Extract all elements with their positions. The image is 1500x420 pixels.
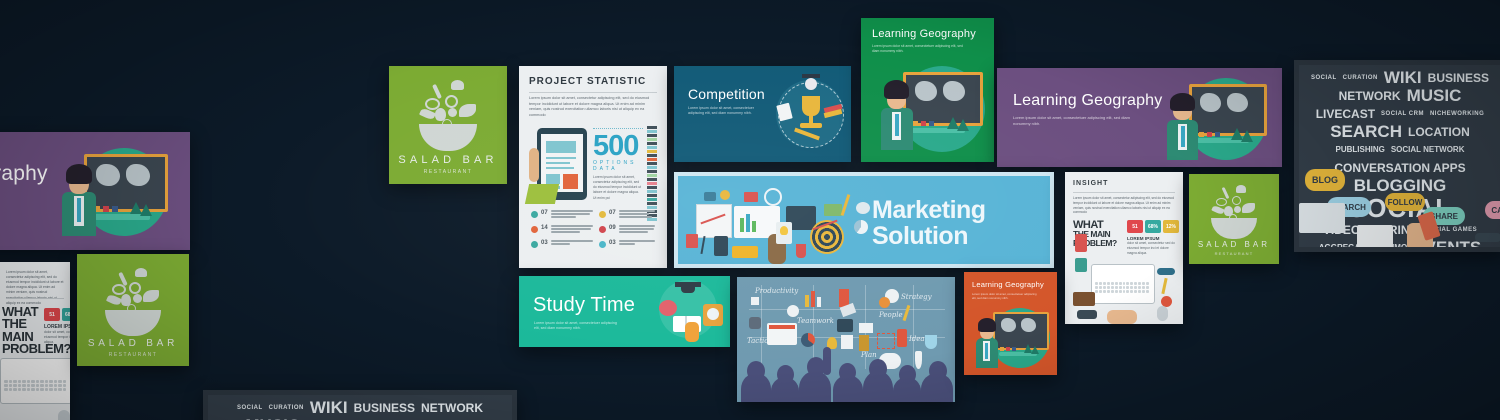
bubble-follow: FOLLOW xyxy=(1385,193,1425,211)
money-icon xyxy=(824,204,842,216)
green-paper xyxy=(525,184,559,204)
graduation-cap-icon xyxy=(681,287,695,293)
crowd-silhouette-head xyxy=(899,365,916,384)
wordcloud-word: SOCIAL CRM xyxy=(1381,111,1424,117)
crowd-silhouette-head xyxy=(839,363,856,382)
wordcloud-word: NETWORK xyxy=(421,402,483,414)
brain-icon xyxy=(659,300,677,316)
bar-chart-icon xyxy=(746,214,750,232)
bar-chart-icon xyxy=(752,221,756,232)
slide-insight-right[interactable]: INSIGHT Lorem ipsum dolor sit amet, cons… xyxy=(1065,172,1183,324)
bar-chart-icon xyxy=(740,218,744,232)
bubble-call: CALL xyxy=(1485,201,1500,219)
badge-icon xyxy=(1075,234,1087,252)
list-text xyxy=(619,210,657,219)
wordcloud-word: BUSINESS xyxy=(1428,72,1489,84)
bubble-blog: BLOG xyxy=(1305,169,1345,191)
laptop-keys xyxy=(1095,282,1149,293)
crowd-silhouette-head xyxy=(869,359,887,379)
project-statistic-body: Lorem ipsum dolor sit amet, consectetur … xyxy=(529,96,657,119)
laptop-icon xyxy=(1299,203,1345,233)
slide-social-media-wordcloud-right[interactable]: SOCIALCURATIONWIKIBUSINESSNETWORKMUSICLI… xyxy=(1294,60,1500,252)
list-text xyxy=(551,225,593,234)
slide-learning-geography-green[interactable]: Learning Geography Lorem ipsum dolor sit… xyxy=(861,18,994,162)
mouse-icon xyxy=(58,410,70,420)
list-item: 14 xyxy=(531,225,593,234)
slide-learning-geography-purple[interactable]: Learning Geography Lorem ipsum dolor sit… xyxy=(997,68,1282,167)
insight-body: Lorem ipsum dolor sit amet, consectetur … xyxy=(1073,196,1175,215)
slide-subtitle: Lorem ipsum dolor sit amet, consectetuer… xyxy=(872,44,964,54)
smartphone-icon xyxy=(897,329,907,347)
stat-chip: 51 xyxy=(44,308,60,321)
wordcloud-word: LIVECAST xyxy=(1316,108,1375,120)
cup-icon xyxy=(796,244,806,258)
list-number: 07 xyxy=(609,210,616,216)
wordcloud-word: SEARCH xyxy=(1330,123,1402,140)
list-text xyxy=(619,225,657,234)
wordcloud-word: PUBLISHING xyxy=(1336,146,1385,154)
label-productivity: Productivity xyxy=(755,287,798,295)
slide-title: Study Time xyxy=(533,294,635,317)
geography-illustration xyxy=(972,304,1054,374)
geography-illustration xyxy=(62,140,182,244)
label-strategy: Strategy xyxy=(901,293,932,301)
flipchart-legs xyxy=(700,236,705,254)
wordcloud-word: BUSINESS xyxy=(354,402,415,414)
gear-icon xyxy=(879,297,890,308)
bar-chart-icon xyxy=(805,295,809,307)
screen-icon xyxy=(751,297,759,305)
slide-title: Geography xyxy=(0,162,48,186)
document-icon xyxy=(841,335,853,349)
user-badge-icon xyxy=(787,305,799,317)
big-number-body: Lorem ipsum dolor sit amet, consectetur … xyxy=(593,175,643,201)
crowd-silhouette-head xyxy=(747,361,765,381)
slide-project-statistic[interactable]: PROJECT STATISTIC Lorem ipsum dolor sit … xyxy=(519,66,667,268)
lightbulb-icon xyxy=(780,226,788,235)
insight-body: Lorem ipsum dolor sit amet, consectetur … xyxy=(6,270,64,306)
clock-icon xyxy=(720,190,730,200)
watch-icon xyxy=(1077,310,1097,319)
graduate-icon xyxy=(805,78,817,90)
pie-chart-icon xyxy=(801,333,815,347)
wordcloud-word: BLOGGING xyxy=(1354,177,1447,194)
list-item: 09 xyxy=(599,225,657,234)
wordcloud-canvas: SOCIALCURATIONWIKIBUSINESSNETWORKMUSICLI… xyxy=(208,395,512,420)
wordcloud-word: CURATION xyxy=(269,405,304,411)
list-text xyxy=(551,240,593,246)
bar-chart-icon xyxy=(817,297,821,307)
briefcase-icon xyxy=(837,319,853,332)
list-item: 07 xyxy=(531,210,593,219)
wordcloud-word: SOCIAL xyxy=(237,405,263,411)
big-number: 500 xyxy=(593,133,643,159)
slide-insight-left[interactable]: Lorem ipsum dolor sit amet, consectetur … xyxy=(0,262,70,420)
list-item: 03 xyxy=(531,240,593,248)
slide-learning-geography-purple-left[interactable]: Geography ing elit, xyxy=(0,132,190,250)
monitor-bar xyxy=(769,325,795,329)
big-number-label: OPTIONS DATA xyxy=(593,160,643,172)
calculator-icon xyxy=(714,236,728,256)
list-text xyxy=(551,210,593,219)
color-stripes xyxy=(647,126,657,221)
flask-icon xyxy=(925,335,937,349)
shopping-bag-icon xyxy=(686,234,698,248)
raised-arm xyxy=(823,347,831,375)
wordcloud-word: CURATION xyxy=(1343,75,1378,81)
bullet-dot xyxy=(599,241,606,248)
dotted-rule xyxy=(593,128,643,133)
pie-chart-icon xyxy=(854,220,868,234)
slide-business-infographic[interactable]: Productivity Teamwork Strategy People Id… xyxy=(737,277,955,402)
stat-caption-body: dolor sit amet, consectetur sed do eiusm… xyxy=(1127,241,1177,255)
wordcloud-word: CONVERSATION APPS xyxy=(1334,162,1465,174)
slide-learning-geography-orange[interactable]: Learning Geography Lorem ipsum dolor sit… xyxy=(964,272,1057,375)
mouse-icon xyxy=(1157,306,1168,321)
slide-subtitle: Lorem ipsum dolor sit amet, consectetuer… xyxy=(972,292,1038,300)
list-number: 09 xyxy=(609,225,616,231)
laptop-keys xyxy=(4,380,66,391)
glasses-icon xyxy=(1475,233,1500,242)
salad-bar-title: SALAD BAR RESTAURANT xyxy=(1189,240,1279,256)
wordcloud-word: MUSIC xyxy=(1407,87,1462,104)
stat-chip: 68% xyxy=(1145,220,1161,233)
bar-chart-icon xyxy=(811,291,815,307)
slide-subtitle: ing elit, xyxy=(0,190,64,197)
graduation-cap-icon xyxy=(802,74,820,78)
geography-illustration xyxy=(1157,74,1277,166)
slide-salad-bar-right[interactable]: SALAD BAR RESTAURANT xyxy=(1189,174,1279,264)
label-plan: Plan xyxy=(861,351,877,359)
hand-holding-tablet xyxy=(529,148,539,182)
chess-icon xyxy=(859,335,869,351)
network-icon xyxy=(877,333,895,349)
pencil-icon xyxy=(841,194,851,216)
slide-salad-bar-top[interactable]: SALAD BAR RESTAURANT xyxy=(389,66,507,184)
slide-title: Learning Geography xyxy=(972,280,1044,289)
pen-icon xyxy=(903,305,911,321)
wallet-icon xyxy=(1073,292,1095,306)
slide-study-time[interactable]: Study Time Lorem ipsum dolor sit amet, c… xyxy=(519,276,730,347)
list-text xyxy=(619,240,657,246)
slide-subtitle: Lorem ipsum dolor sit amet, consectetuer… xyxy=(534,321,618,331)
insight-stats: 51 68% 12% xyxy=(44,308,70,321)
pencil-icon xyxy=(1161,278,1167,294)
geography-illustration xyxy=(873,60,991,160)
truck-icon xyxy=(732,246,758,258)
wordcloud-word: WIKI xyxy=(1384,69,1422,86)
slide-wall: Geography ing elit, Lorem ipsum dolor si… xyxy=(0,0,1500,420)
wordcloud-word: NICHEWORKING xyxy=(1430,111,1484,117)
salad-bar-title: SALAD BAR RESTAURANT xyxy=(77,338,189,358)
stat-chip: 68% xyxy=(62,308,70,321)
camera-icon xyxy=(704,192,716,201)
slide-title: Learning Geography xyxy=(872,28,976,40)
stat-chip: 12% xyxy=(1163,220,1179,233)
crowd-silhouette-head xyxy=(929,361,947,381)
insight-heading: INSIGHT xyxy=(1073,180,1108,187)
wordcloud-word: SOCIAL NETWORK xyxy=(1391,146,1465,154)
bullet-dot xyxy=(531,226,538,233)
hand-pointer-icon xyxy=(685,322,699,342)
slide-subtitle: Lorem ipsum dolor sit amet, consectetuer… xyxy=(688,106,766,116)
wordcloud-words: SOCIALCURATIONWIKIBUSINESSNETWORKMUSICLI… xyxy=(208,399,512,420)
list-number: 03 xyxy=(541,240,548,246)
slide-subtitle: Lorem ipsum dolor sit amet, consectetuer… xyxy=(1013,115,1143,127)
salad-bar-title: SALAD BAR RESTAURANT xyxy=(389,154,507,175)
wordcloud-word: LOCATION xyxy=(1408,126,1470,138)
insight-question: WHAT THE MAIN PROBLEM? xyxy=(2,306,42,355)
envelope-icon xyxy=(859,323,873,333)
tie-icon xyxy=(915,351,922,369)
list-number: 14 xyxy=(541,225,548,231)
marketing-illustration xyxy=(684,180,902,266)
slide-marketing-solution[interactable]: Marketing Solution xyxy=(674,172,1054,268)
label-people: People xyxy=(879,311,903,319)
project-statistic-heading: PROJECT STATISTIC xyxy=(529,76,646,87)
wrench-icon xyxy=(749,317,761,329)
competition-illustration xyxy=(766,70,851,160)
bullet-dot xyxy=(531,241,538,248)
list-item: 03 xyxy=(599,240,657,248)
bullet-dot xyxy=(599,226,606,233)
bullet-dot xyxy=(531,211,538,218)
wordcloud-word: NETWORK xyxy=(1339,90,1401,102)
insight-stats: 51 68% 12% xyxy=(1127,220,1179,233)
clock-face xyxy=(707,308,719,320)
crowd-silhouette-head xyxy=(777,365,794,384)
slide-social-media-wordcloud-center[interactable]: SOCIALCURATIONWIKIBUSINESSNETWORKMUSICLI… xyxy=(203,390,517,420)
list-item: 07 xyxy=(599,210,657,219)
list-number: 03 xyxy=(609,240,616,246)
slide-competition[interactable]: Competition Lorem ipsum dolor sit amet, … xyxy=(674,66,851,162)
slide-salad-bar-left[interactable]: SALAD BAR RESTAURANT xyxy=(77,254,189,366)
folder-icon xyxy=(744,192,758,202)
wordcloud-word: WIKI xyxy=(310,399,348,416)
slide-title: Learning Geography xyxy=(1013,92,1162,110)
stat-caption-body: dolor sit amet, consectetur sed do eiusm… xyxy=(44,330,70,345)
label-teamwork: Teamwork xyxy=(797,317,834,325)
slide-title: Competition xyxy=(688,86,765,102)
notebook-icon xyxy=(1357,225,1393,247)
bullet-dot xyxy=(599,211,606,218)
magnifier-icon xyxy=(764,188,782,206)
label-tactic: Tactic xyxy=(747,337,768,345)
brain-icon xyxy=(856,202,870,214)
hands-icon xyxy=(1107,310,1137,324)
stat-chip: 51 xyxy=(1127,220,1143,233)
sunglasses-icon xyxy=(1157,268,1175,275)
wordcloud-canvas: SOCIALCURATIONWIKIBUSINESSNETWORKMUSICLI… xyxy=(1299,65,1500,247)
phone-icon xyxy=(1075,258,1087,272)
list-number: 07 xyxy=(541,210,548,216)
study-illustration xyxy=(647,276,727,347)
label-idea: Idea xyxy=(909,335,925,343)
wordcloud-word: SOCIAL xyxy=(1311,75,1337,81)
